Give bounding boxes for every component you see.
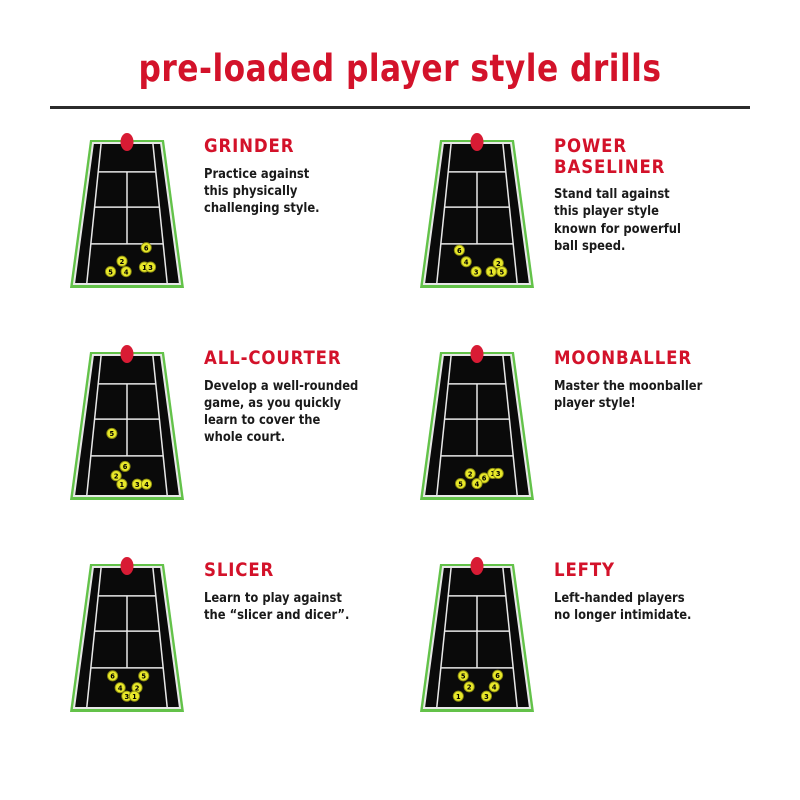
tennis-court-diagram: 562134 bbox=[64, 342, 190, 510]
ball-number: 1 bbox=[132, 692, 137, 701]
player-position-marker bbox=[471, 557, 484, 575]
tennis-court-diagram: 621354 bbox=[64, 130, 190, 298]
ball-marker: 6 bbox=[493, 670, 503, 680]
drill-description-all-courter: Develop a well-rounded game, as you quic… bbox=[204, 378, 390, 447]
ball-marker: 6 bbox=[454, 245, 464, 255]
ball-marker: 2 bbox=[117, 256, 127, 266]
ball-marker: 4 bbox=[489, 682, 499, 692]
drill-card-slicer[interactable]: 654231SLICERLearn to play against the “s… bbox=[50, 554, 400, 766]
drill-title-slicer: SLICER bbox=[204, 560, 394, 581]
ball-marker: 5 bbox=[107, 428, 117, 438]
player-position-marker bbox=[121, 133, 134, 151]
tennis-court-diagram: 654231 bbox=[64, 554, 190, 722]
ball-number: 4 bbox=[144, 480, 149, 489]
court-wrap-slicer: 654231 bbox=[50, 554, 190, 722]
drill-text-all-courter: ALL-COURTERDevelop a well-rounded game, … bbox=[190, 342, 400, 447]
ball-number: 6 bbox=[110, 672, 115, 681]
ball-marker: 2 bbox=[464, 682, 474, 692]
ball-marker: 4 bbox=[121, 266, 131, 276]
page-header: pre-loaded player style drills bbox=[0, 0, 800, 109]
ball-marker: 3 bbox=[145, 262, 155, 272]
court-wrap-moonballer: 261354 bbox=[400, 342, 540, 510]
ball-number: 5 bbox=[458, 479, 463, 488]
drill-title-all-courter: ALL-COURTER bbox=[204, 348, 394, 369]
ball-number: 3 bbox=[484, 692, 489, 701]
ball-marker: 5 bbox=[139, 671, 149, 681]
ball-number: 5 bbox=[108, 267, 113, 276]
ball-marker: 2 bbox=[465, 469, 475, 479]
tennis-court-diagram: 642315 bbox=[414, 130, 540, 298]
ball-number: 2 bbox=[467, 683, 472, 692]
drill-card-lefty[interactable]: 562413LEFTYLeft-handed players no longer… bbox=[400, 554, 750, 766]
court-wrap-lefty: 562413 bbox=[400, 554, 540, 722]
ball-marker: 6 bbox=[141, 243, 151, 253]
ball-number: 4 bbox=[492, 683, 497, 692]
drill-text-slicer: SLICERLearn to play against the “slicer … bbox=[190, 554, 400, 624]
court-wrap-power-baseliner: 642315 bbox=[400, 130, 540, 298]
drill-card-all-courter[interactable]: 562134ALL-COURTERDevelop a well-rounded … bbox=[50, 342, 400, 554]
ball-number: 3 bbox=[474, 267, 479, 276]
player-position-marker bbox=[121, 557, 134, 575]
drill-title-moonballer: MOONBALLER bbox=[554, 348, 744, 369]
ball-marker: 5 bbox=[105, 266, 115, 276]
ball-number: 6 bbox=[144, 243, 149, 252]
drill-description-lefty: Left-handed players no longer intimidate… bbox=[554, 590, 740, 625]
ball-number: 1 bbox=[456, 692, 461, 701]
ball-marker: 3 bbox=[481, 691, 491, 701]
ball-marker: 1 bbox=[486, 266, 496, 276]
ball-number: 3 bbox=[148, 263, 153, 272]
ball-number: 4 bbox=[118, 683, 123, 692]
ball-number: 6 bbox=[482, 474, 487, 483]
page-title: pre-loaded player style drills bbox=[24, 50, 776, 87]
ball-marker: 1 bbox=[117, 479, 127, 489]
ball-number: 3 bbox=[124, 692, 129, 701]
ball-number: 6 bbox=[495, 671, 500, 680]
drill-text-power-baseliner: POWER BASELINERStand tall against this p… bbox=[540, 130, 750, 255]
ball-number: 6 bbox=[457, 246, 462, 255]
drill-text-lefty: LEFTYLeft-handed players no longer intim… bbox=[540, 554, 750, 624]
ball-marker: 5 bbox=[497, 266, 507, 276]
ball-number: 2 bbox=[468, 469, 473, 478]
drill-text-moonballer: MOONBALLERMaster the moonballer player s… bbox=[540, 342, 750, 412]
ball-number: 5 bbox=[500, 267, 505, 276]
ball-marker: 3 bbox=[471, 266, 481, 276]
ball-marker: 4 bbox=[141, 479, 151, 489]
ball-number: 5 bbox=[141, 672, 146, 681]
ball-number: 5 bbox=[461, 672, 466, 681]
ball-number: 1 bbox=[489, 267, 494, 276]
ball-marker: 6 bbox=[107, 671, 117, 681]
ball-number: 2 bbox=[114, 471, 119, 480]
court-wrap-all-courter: 562134 bbox=[50, 342, 190, 510]
ball-number: 4 bbox=[475, 479, 480, 488]
ball-number: 3 bbox=[135, 480, 140, 489]
tennis-court-diagram: 562413 bbox=[414, 554, 540, 722]
drill-title-power-baseliner: POWER BASELINER bbox=[554, 136, 744, 177]
player-position-marker bbox=[121, 345, 134, 363]
ball-number: 5 bbox=[110, 429, 115, 438]
drill-description-slicer: Learn to play against the “slicer and di… bbox=[204, 590, 390, 625]
ball-number: 2 bbox=[120, 257, 125, 266]
ball-number: 4 bbox=[464, 257, 469, 266]
player-position-marker bbox=[471, 345, 484, 363]
ball-marker: 1 bbox=[129, 691, 139, 701]
drill-description-moonballer: Master the moonballer player style! bbox=[554, 378, 740, 413]
drill-card-grinder[interactable]: 621354GRINDERPractice against this physi… bbox=[50, 130, 400, 342]
ball-number: 1 bbox=[120, 480, 125, 489]
drill-grid: 621354GRINDERPractice against this physi… bbox=[0, 130, 800, 766]
drill-title-lefty: LEFTY bbox=[554, 560, 744, 581]
drill-text-grinder: GRINDERPractice against this physically … bbox=[190, 130, 400, 217]
player-position-marker bbox=[471, 133, 484, 151]
ball-number: 6 bbox=[123, 462, 128, 471]
ball-marker: 4 bbox=[461, 257, 471, 267]
ball-number: 4 bbox=[124, 267, 129, 276]
ball-marker: 4 bbox=[472, 478, 482, 488]
ball-marker: 3 bbox=[493, 468, 503, 478]
drill-title-grinder: GRINDER bbox=[204, 136, 394, 157]
ball-marker: 6 bbox=[120, 461, 130, 471]
ball-marker: 3 bbox=[132, 479, 142, 489]
drill-card-moonballer[interactable]: 261354MOONBALLERMaster the moonballer pl… bbox=[400, 342, 750, 554]
page-root: pre-loaded player style drills 621354GRI… bbox=[0, 0, 800, 800]
ball-marker: 5 bbox=[458, 671, 468, 681]
ball-marker: 1 bbox=[453, 691, 463, 701]
header-divider-rule bbox=[50, 106, 750, 109]
ball-number: 3 bbox=[496, 469, 501, 478]
tennis-court-diagram: 261354 bbox=[414, 342, 540, 510]
drill-card-power-baseliner[interactable]: 642315POWER BASELINERStand tall against … bbox=[400, 130, 750, 342]
court-wrap-grinder: 621354 bbox=[50, 130, 190, 298]
drill-description-power-baseliner: Stand tall against this player style kno… bbox=[554, 186, 740, 255]
ball-marker: 5 bbox=[455, 478, 465, 488]
drill-description-grinder: Practice against this physically challen… bbox=[204, 166, 390, 218]
